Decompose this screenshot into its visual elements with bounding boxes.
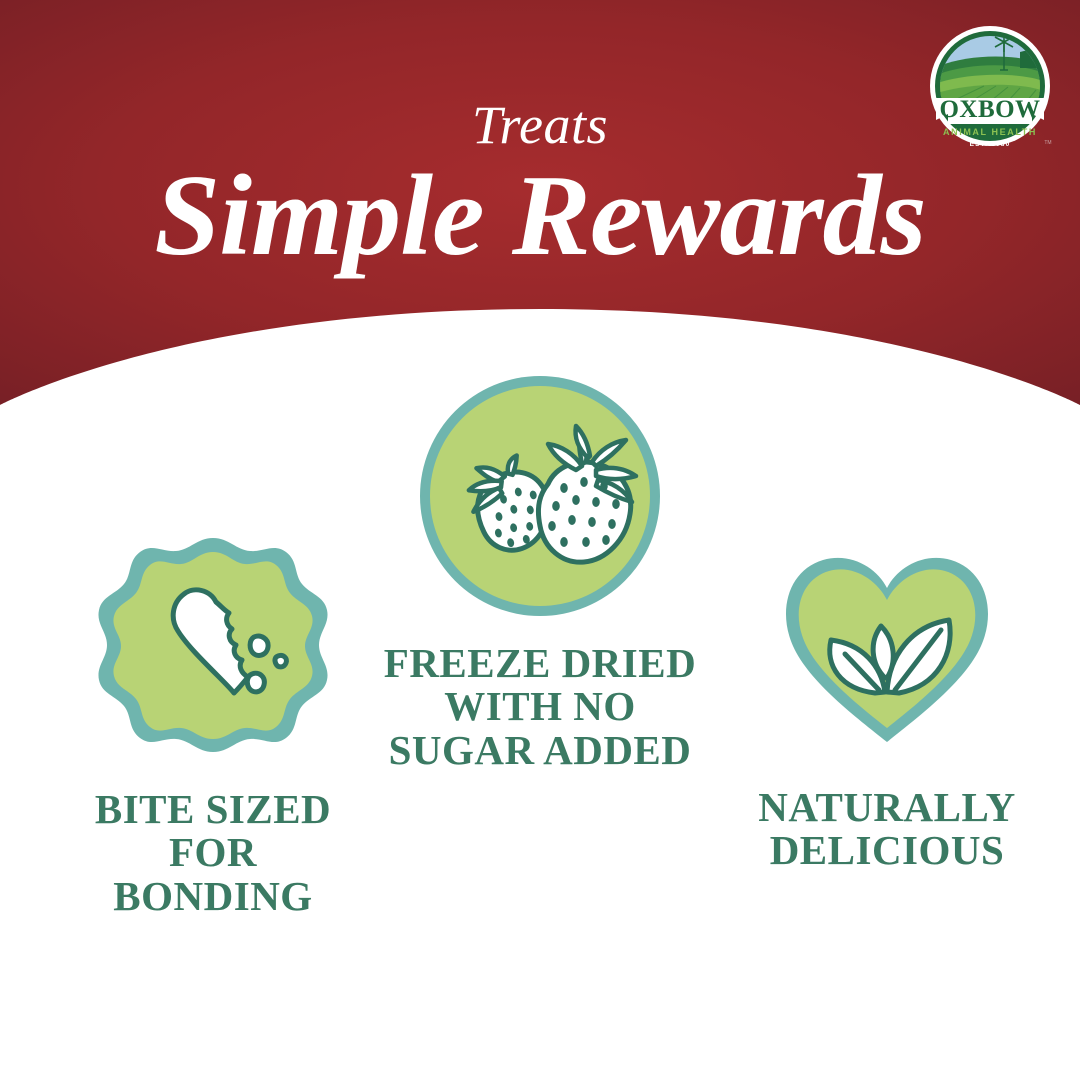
oxbow-logo[interactable]: OXBOW ANIMAL HEALTH EST. 1980 TM bbox=[924, 24, 1056, 156]
bitten-heart-icon bbox=[98, 530, 328, 760]
feature-caption-freeze-dried: FREEZE DRIED WITH NO SUGAR ADDED bbox=[370, 642, 710, 772]
feature-bite-sized[interactable]: BITE SIZED FOR BONDING bbox=[58, 530, 368, 918]
caption-line: WITH NO bbox=[370, 685, 710, 728]
logo-brand-text: OXBOW bbox=[939, 96, 1040, 123]
strawberries-icon bbox=[416, 372, 664, 620]
feature-caption-naturally-delicious: NATURALLY DELICIOUS bbox=[722, 786, 1052, 873]
caption-line: FREEZE DRIED bbox=[370, 642, 710, 685]
caption-line: BITE SIZED bbox=[58, 788, 368, 831]
caption-line: NATURALLY bbox=[722, 786, 1052, 829]
caption-line: SUGAR ADDED bbox=[370, 729, 710, 772]
feature-caption-bite-sized: BITE SIZED FOR BONDING bbox=[58, 788, 368, 918]
caption-line: DELICIOUS bbox=[722, 829, 1052, 872]
feature-naturally-delicious[interactable]: NATURALLY DELICIOUS bbox=[722, 550, 1052, 873]
leaves-sprout-icon bbox=[779, 550, 995, 750]
logo-tagline-text: ANIMAL HEALTH bbox=[943, 127, 1037, 137]
feature-freeze-dried[interactable]: FREEZE DRIED WITH NO SUGAR ADDED bbox=[370, 372, 710, 772]
header-banner: Treats Simple Rewards bbox=[0, 0, 1080, 405]
logo-established-text: EST. 1980 bbox=[970, 141, 1011, 148]
poster-canvas: Treats Simple Rewards bbox=[0, 0, 1080, 1080]
feature-row: BITE SIZED FOR BONDING bbox=[0, 370, 1080, 970]
caption-line: FOR bbox=[58, 831, 368, 874]
caption-line: BONDING bbox=[58, 875, 368, 918]
logo-trademark-text: TM bbox=[1044, 140, 1051, 146]
banner-background bbox=[0, 0, 1080, 405]
